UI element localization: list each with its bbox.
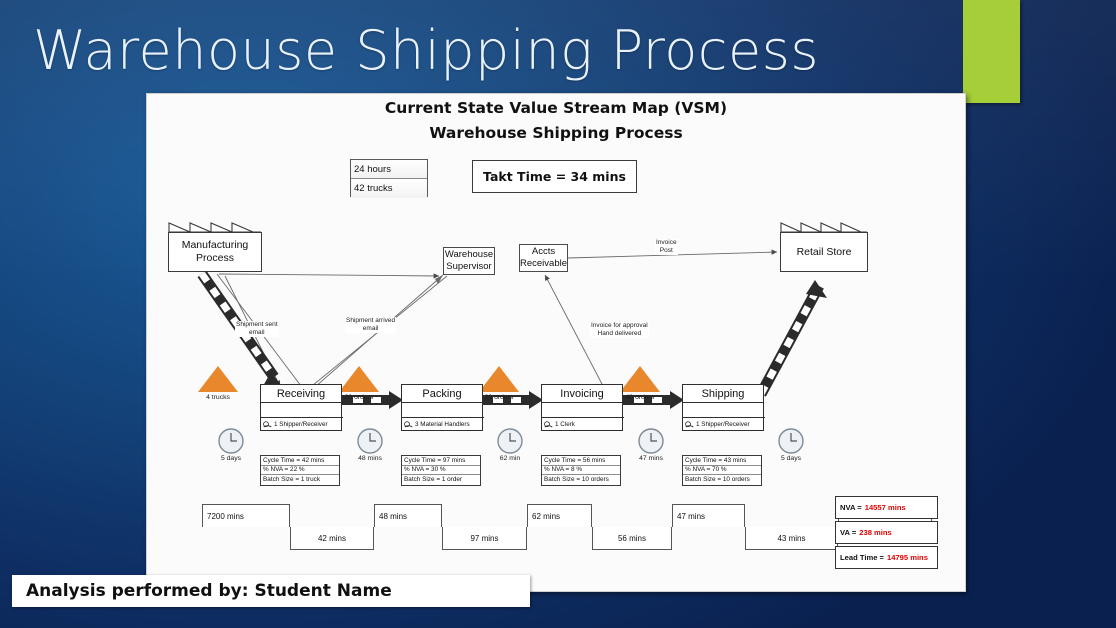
process-name: Shipping <box>683 385 763 403</box>
manufacturing-process-entity: Manufacturing Process <box>168 219 262 272</box>
databox-line: Cycle Time = 97 mins <box>402 456 480 466</box>
process-operators: 3 Material Handlers <box>402 417 484 430</box>
clock-icon <box>217 427 245 455</box>
inventory-triangle-icon <box>479 366 519 392</box>
invoice-post-label: Invoice Post <box>655 239 678 255</box>
process-name: Invoicing <box>542 385 622 403</box>
timeline-nva-segment: 48 mins <box>374 504 442 527</box>
nva-total-value: 14557 mins <box>865 503 906 512</box>
process-operators: 1 Clerk <box>542 417 624 430</box>
operator-icon <box>404 421 413 428</box>
va-total-value: 238 mins <box>859 528 892 537</box>
retail-store-entity: Retail Store <box>780 219 868 272</box>
databox-line: % NVA = 22 % <box>261 466 339 476</box>
lead-time-total-row: Lead Time = 14795 mins <box>835 546 938 569</box>
inventory-before-invoicing: 20 orders <box>479 366 519 392</box>
invoice-approval-line2: Hand delivered <box>598 330 642 337</box>
retail-store-label: Retail Store <box>780 232 868 272</box>
inventory-triangle-icon <box>198 366 238 392</box>
timeline-va-segment: 42 mins <box>290 527 374 550</box>
timeline-va-segment: 56 mins <box>592 527 672 550</box>
process-packing: Packing 3 Material Handlers <box>401 384 483 431</box>
inventory-label: 20 orders <box>485 394 514 401</box>
shipment-sent-line1: Shipment sent <box>236 321 278 328</box>
inventory-before-shipping: 40 orders <box>620 366 660 392</box>
operator-label: 1 Shipper/Receiver <box>274 421 328 428</box>
clock-icon <box>496 427 524 455</box>
operator-label: 1 Shipper/Receiver <box>696 421 750 428</box>
inventory-triangle-icon <box>620 366 660 392</box>
databox-line: Batch Size = 1 truck <box>261 475 339 485</box>
timeline: 7200 mins 42 mins 48 mins 97 mins 62 min… <box>202 504 932 550</box>
clock-icon <box>637 427 665 455</box>
clock-label: 47 mins <box>639 455 663 462</box>
databox-line: % NVA = 70 % <box>683 466 761 476</box>
operator-label: 3 Material Handlers <box>415 421 470 428</box>
vsm-title-line2: Warehouse Shipping Process <box>147 124 965 142</box>
databox-line: Cycle Time = 56 mins <box>542 456 620 466</box>
databox-invoicing: Cycle Time = 56 mins % NVA = 8 % Batch S… <box>541 455 621 486</box>
shipment-sent-email-label: Shipment sent email <box>235 321 279 337</box>
footer-text: Analysis performed by: Student Name <box>26 581 392 601</box>
clock-label: 5 days <box>781 455 801 462</box>
vsm-title-line1: Current State Value Stream Map (VSM) <box>147 99 965 117</box>
timeline-va-segment: 97 mins <box>442 527 527 550</box>
shipment-sent-line2: email <box>249 329 265 336</box>
shipment-arrived-email-label: Shipment arrived email <box>345 317 396 333</box>
timeline-nva-segment: 47 mins <box>672 504 745 527</box>
takt-time-box: Takt Time = 34 mins <box>472 160 637 193</box>
operator-icon <box>263 421 272 428</box>
operator-icon <box>544 421 553 428</box>
clock-after-invoicing: 47 mins <box>637 427 665 460</box>
demand-row: 42 trucks <box>351 179 427 198</box>
inventory-label: 40 orders <box>626 394 655 401</box>
va-total-row: VA = 238 mins <box>835 521 938 544</box>
timeline-nva-segment: 7200 mins <box>202 504 290 527</box>
clock-label: 5 days <box>221 455 241 462</box>
va-total-label: VA = <box>840 528 856 537</box>
shipment-arrived-line1: Shipment arrived <box>346 317 395 324</box>
available-time-row: 24 hours <box>351 160 427 179</box>
inventory-label: 4 trucks <box>206 394 230 401</box>
databox-line: % NVA = 8 % <box>542 466 620 476</box>
operator-icon <box>685 421 694 428</box>
process-shipping: Shipping 1 Shipper/Receiver <box>682 384 764 431</box>
databox-line: Cycle Time = 42 mins <box>261 456 339 466</box>
operator-label: 1 Clerk <box>555 421 575 428</box>
demand-box: 24 hours 42 trucks <box>350 159 428 197</box>
databox-receiving: Cycle Time = 42 mins % NVA = 22 % Batch … <box>260 455 340 486</box>
clock-label: 48 mins <box>358 455 382 462</box>
clock-icon <box>356 427 384 455</box>
nva-total-row: NVA = 14557 mins <box>835 496 938 519</box>
clock-after-shipping: 5 days <box>777 427 805 460</box>
value-stream-map-image: Current State Value Stream Map (VSM) War… <box>146 93 966 592</box>
lead-time-label: Lead Time = <box>840 553 884 562</box>
page-title: Warehouse Shipping Process <box>33 18 933 84</box>
shipment-arrived-line2: email <box>363 325 379 332</box>
timeline-va-segment: 43 mins <box>745 527 838 550</box>
process-receiving: Receiving 1 Shipper/Receiver <box>260 384 342 431</box>
process-name: Packing <box>402 385 482 403</box>
databox-packing: Cycle Time = 97 mins % NVA = 30 % Batch … <box>401 455 481 486</box>
nva-total-label: NVA = <box>840 503 862 512</box>
clock-label: 62 min <box>500 455 520 462</box>
databox-line: Cycle Time = 43 mins <box>683 456 761 466</box>
lead-time-value: 14795 mins <box>887 553 928 562</box>
process-name: Receiving <box>261 385 341 403</box>
timeline-nva-segment: 62 mins <box>527 504 592 527</box>
clock-after-packing: 62 min <box>496 427 524 460</box>
invoice-for-approval-label: Invoice for approval Hand delivered <box>590 322 649 338</box>
green-accent-bar <box>963 0 1020 103</box>
clock-icon <box>777 427 805 455</box>
factory-roof-icon <box>168 219 262 233</box>
process-invoicing: Invoicing 1 Clerk <box>541 384 623 431</box>
clock-before-receiving: 5 days <box>217 427 245 460</box>
inventory-before-packing: 20 orders <box>339 366 379 392</box>
factory-roof-icon <box>780 219 868 233</box>
databox-line: Batch Size = 10 orders <box>542 475 620 485</box>
summary-box: NVA = 14557 mins VA = 238 mins Lead Time… <box>835 496 938 571</box>
warehouse-supervisor-box: Warehouse Supervisor <box>443 247 495 275</box>
invoice-post-line2: Post <box>660 247 673 254</box>
databox-line: % NVA = 30 % <box>402 466 480 476</box>
clock-after-receiving: 48 mins <box>356 427 384 460</box>
process-operators: 1 Shipper/Receiver <box>261 417 343 430</box>
inventory-before-receiving: 4 trucks <box>198 366 238 392</box>
inventory-triangle-icon <box>339 366 379 392</box>
databox-line: Batch Size = 1 order <box>402 475 480 485</box>
warehouse-supervisor-label: Warehouse Supervisor <box>444 249 494 273</box>
accts-receivable-label: Accts Receivable <box>520 246 567 270</box>
inventory-label: 20 orders <box>345 394 374 401</box>
footer-banner: Analysis performed by: Student Name <box>12 575 530 607</box>
accts-receivable-box: Accts Receivable <box>519 244 568 272</box>
invoice-post-line1: Invoice <box>656 239 677 246</box>
invoice-approval-line1: Invoice for approval <box>591 322 648 329</box>
databox-shipping: Cycle Time = 43 mins % NVA = 70 % Batch … <box>682 455 762 486</box>
databox-line: Batch Size = 10 orders <box>683 475 761 485</box>
process-operators: 1 Shipper/Receiver <box>683 417 765 430</box>
manufacturing-process-label: Manufacturing Process <box>168 232 262 272</box>
